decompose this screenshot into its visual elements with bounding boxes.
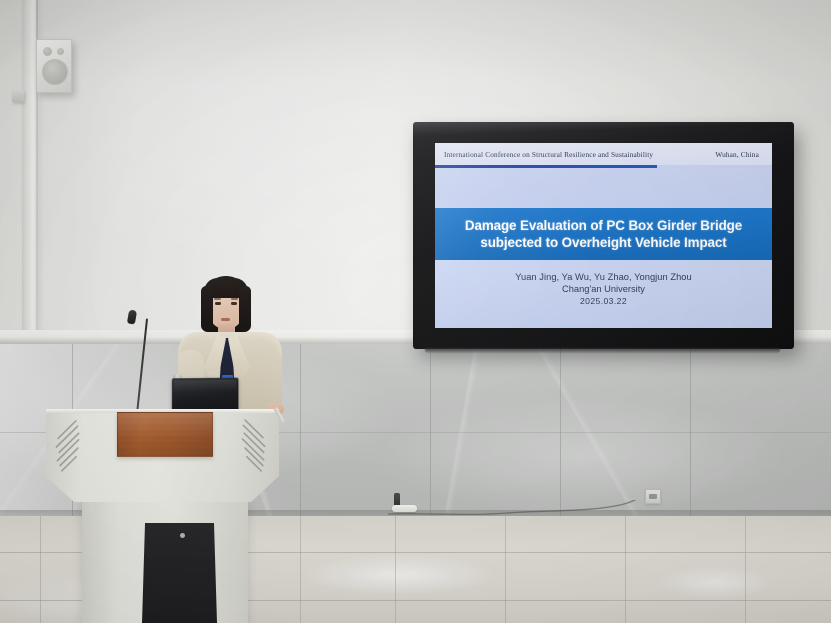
- presenter-laptop: [172, 378, 239, 414]
- slide-affiliation: Chang'an University: [435, 284, 772, 294]
- floor-grout-line: [395, 516, 396, 623]
- presenter-eyebrow-left: [214, 298, 221, 300]
- floor-grout-line: [300, 516, 301, 623]
- wall-speaker: [36, 39, 72, 93]
- laptop-screen-sheen: [174, 380, 237, 392]
- presenter-hair-left: [201, 286, 213, 332]
- floor-grout-line: [40, 516, 41, 623]
- wall-mounted-display[interactable]: International Conference on Structural R…: [413, 122, 794, 349]
- slide-title-line-1: Damage Evaluation of PC Box Girder Bridg…: [465, 218, 742, 233]
- slide-body: Damage Evaluation of PC Box Girder Bridg…: [435, 168, 772, 328]
- wainscot-tile-seam: [300, 344, 301, 516]
- slide-authors: Yuan Jing, Ya Wu, Yu Zhao, Yongjun Zhou: [435, 272, 772, 282]
- presenter-eye-left: [215, 302, 221, 305]
- slide-date: 2025.03.22: [435, 296, 772, 306]
- floor-grout-line: [745, 516, 746, 623]
- floor-grout-line: [625, 516, 626, 623]
- lectern-base-panel: [142, 523, 217, 623]
- floor-cable: [388, 500, 653, 516]
- wainscot-tile-seam: [560, 344, 561, 516]
- lectern-panel-fastener: [180, 533, 185, 538]
- slide-conference-name: International Conference on Structural R…: [444, 150, 653, 159]
- presenter-eyebrow-right: [231, 298, 238, 300]
- display-screen: International Conference on Structural R…: [435, 143, 772, 328]
- wainscot-tile-seam: [430, 344, 431, 516]
- floor-object-white: [392, 505, 417, 512]
- lectern-wood-panel: [117, 412, 213, 457]
- slide-author-block: Yuan Jing, Ya Wu, Yu Zhao, Yongjun Zhou …: [435, 272, 772, 306]
- presenter-mouth: [221, 318, 230, 321]
- presenter-hair-right: [239, 286, 251, 332]
- slide-conference-location: Wuhan, China: [715, 150, 763, 159]
- floor-grout-line: [505, 516, 506, 623]
- slide-header-bar: International Conference on Structural R…: [435, 143, 772, 165]
- speaker-port-icon: [57, 48, 64, 55]
- wainscot-tile-seam: [690, 344, 691, 516]
- slide-title-band: Damage Evaluation of PC Box Girder Bridg…: [435, 208, 772, 260]
- presenter-eye-right: [231, 302, 237, 305]
- speaker-tweeter-icon: [43, 47, 52, 56]
- speaker-woofer-icon: [42, 59, 68, 85]
- outlet-socket-icon: [649, 494, 657, 499]
- display-bottom-edge: [425, 348, 780, 353]
- presentation-photo-scene: International Conference on Structural R…: [0, 0, 831, 623]
- speaker-mount-bracket: [12, 90, 24, 102]
- slide-title-line-2: subjected to Overheight Vehicle Impact: [480, 235, 726, 250]
